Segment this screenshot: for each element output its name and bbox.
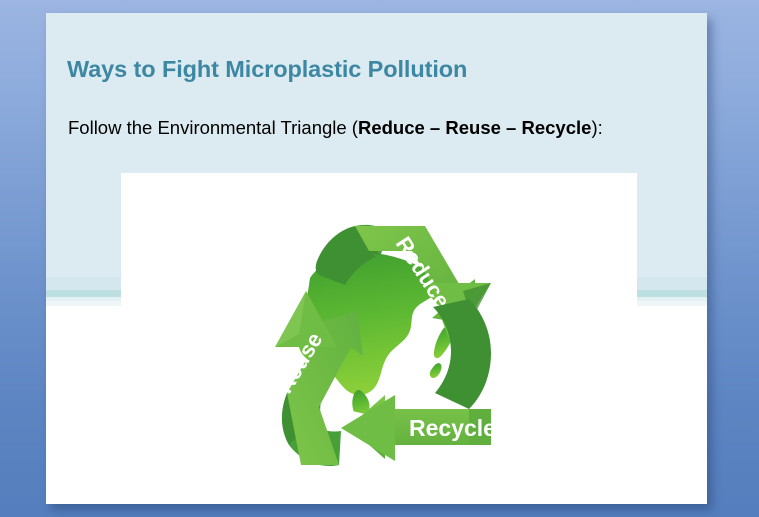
presentation-backdrop: Ways to Fight Microplastic Pollution Fol… [0,0,759,517]
slide-body-text[interactable]: Follow the Environmental Triangle (Reduc… [68,114,628,142]
recycle-triangle-globe-image[interactable]: Reduce Reuse [229,179,529,479]
body-tail: ): [591,117,602,138]
picture-placeholder-frame[interactable]: Reduce Reuse [121,173,637,499]
body-lead: Follow the Environmental Triangle ( [68,117,358,138]
body-term-reduce: Reduce [358,117,425,138]
slide-canvas[interactable]: Ways to Fight Microplastic Pollution Fol… [46,13,707,504]
arrow-recycle-label: Recycle [409,415,496,441]
body-term-recycle: Recycle [521,117,591,138]
body-separator-1: – [425,117,446,138]
body-separator-2: – [501,117,522,138]
slide-title[interactable]: Ways to Fight Microplastic Pollution [67,56,667,83]
body-term-reuse: Reuse [445,117,501,138]
